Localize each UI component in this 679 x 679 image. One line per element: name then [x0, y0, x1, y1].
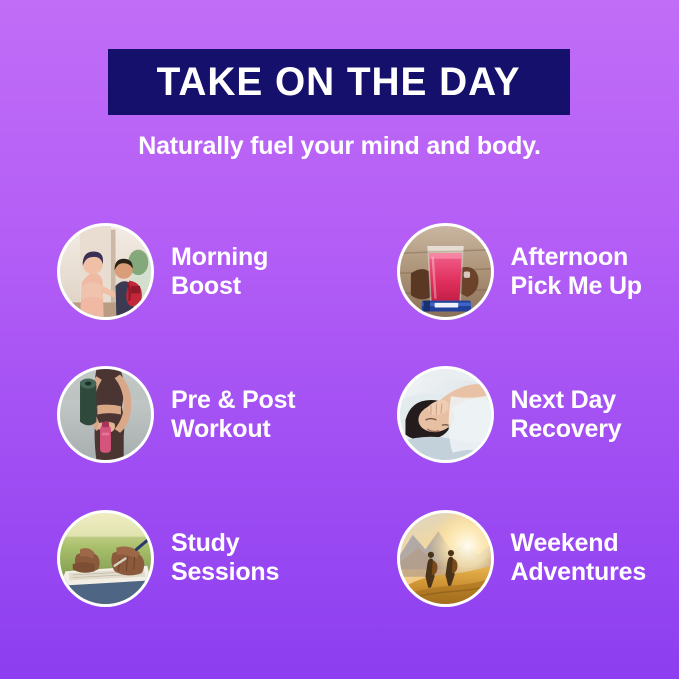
benefit-item-next-day-recovery: Next Day Recovery: [340, 343, 679, 486]
benefit-thumb-ring: [397, 366, 494, 463]
promo-poster: TAKE ON THE DAY Naturally fuel your mind…: [0, 0, 679, 679]
benefit-label: Morning Boost: [171, 243, 268, 301]
benefit-item-afternoon-pick-me-up: Afternoon Pick Me Up: [340, 200, 679, 343]
benefit-label: Pre & Post Workout: [171, 386, 295, 444]
benefit-item-weekend-adventures: Weekend Adventures: [340, 487, 679, 630]
benefit-thumb-ring: [57, 366, 154, 463]
woman-with-yoga-mat-photo: [60, 369, 151, 460]
benefit-item-study-sessions: Study Sessions: [0, 487, 340, 630]
benefits-grid: Morning Boost: [0, 200, 679, 630]
mother-and-child-with-backpack-photo: [60, 226, 151, 317]
benefit-thumb-ring: [57, 510, 154, 607]
hands-writing-in-notebook-photo: [60, 513, 151, 604]
benefit-label: Next Day Recovery: [511, 386, 622, 444]
benefit-label: Weekend Adventures: [511, 529, 647, 587]
hikers-on-mountain-at-sunset-photo: [400, 513, 491, 604]
benefit-label: Study Sessions: [171, 529, 279, 587]
page-title: TAKE ON THE DAY: [157, 62, 521, 102]
pink-drink-in-glass-photo: [400, 226, 491, 317]
header-banner: TAKE ON THE DAY: [108, 49, 570, 115]
benefit-label: Afternoon Pick Me Up: [511, 243, 642, 301]
woman-resting-in-bed-photo: [400, 369, 491, 460]
benefit-item-pre-and-post-workout: Pre & Post Workout: [0, 343, 340, 486]
benefit-item-morning-boost: Morning Boost: [0, 200, 340, 343]
benefit-thumb-ring: [397, 223, 494, 320]
benefit-thumb-ring: [57, 223, 154, 320]
benefit-thumb-ring: [397, 510, 494, 607]
page-subtitle: Naturally fuel your mind and body.: [0, 134, 679, 159]
